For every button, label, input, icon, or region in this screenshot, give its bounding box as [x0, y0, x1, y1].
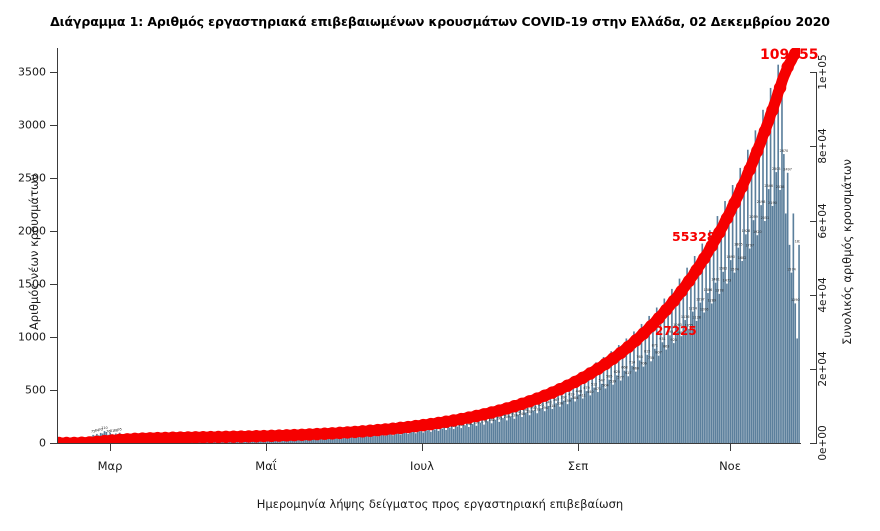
bar-value-label: 209: [504, 415, 510, 419]
bar-value-label: 440: [587, 390, 593, 394]
x-tick-label-ioul: Ιουλ: [410, 459, 434, 473]
bar: [749, 249, 751, 443]
bar-value-label: 660: [633, 366, 639, 370]
y2-tick-label-8e04: 8e+04: [817, 128, 829, 163]
x-tick-label-sep: Σεπ: [568, 459, 588, 473]
bar: [747, 150, 749, 443]
y2-tick-label-1e05: 1e+05: [817, 54, 829, 89]
bar: [529, 415, 531, 443]
bar-value-label: 2198: [757, 200, 766, 204]
bar: [707, 293, 709, 443]
bar: [684, 320, 686, 443]
bar: [755, 130, 757, 443]
bar: [734, 273, 736, 443]
bar-value-label: 2346: [764, 184, 773, 188]
x-tick-label-mar: Μαρ: [98, 459, 123, 473]
bar: [775, 172, 777, 443]
bar: [479, 423, 481, 443]
cumulative-dot: [759, 125, 771, 137]
bar: [369, 437, 371, 443]
bar-value-label: 336: [557, 401, 563, 405]
bar-value-label: 585: [606, 374, 612, 378]
bar: [724, 201, 726, 443]
bar: [770, 88, 772, 443]
x-tick-label-noe: Νοε: [719, 459, 741, 473]
bar-value-label: 1805: [734, 242, 743, 246]
bar: [586, 391, 588, 443]
bar: [449, 428, 451, 443]
bar: [569, 388, 571, 443]
bar: [396, 434, 398, 443]
bar: [358, 437, 360, 443]
bar: [441, 429, 443, 443]
bar: [739, 168, 741, 443]
bar-value-label: 1574: [730, 267, 739, 271]
bar: [533, 411, 535, 443]
cumulative-dot: [736, 181, 748, 193]
bar: [453, 429, 455, 443]
bar: [688, 329, 690, 443]
bar: [593, 388, 595, 443]
bar-value-label: 1128: [692, 316, 701, 320]
cumulative-dot: [683, 275, 695, 287]
bar: [350, 437, 352, 443]
bar: [696, 321, 698, 443]
bar: [794, 303, 796, 443]
bar: [514, 419, 516, 443]
y-tick-label-3000: 3000: [18, 119, 46, 132]
plot-area: 7584931107681889560657062756781728778948…: [58, 48, 800, 443]
bar: [502, 418, 504, 443]
bar-value-label: 547: [598, 379, 604, 383]
bar-value-label: 714: [629, 361, 635, 365]
bar: [768, 189, 770, 443]
bar: [601, 384, 603, 443]
bar-value-label: 871: [652, 344, 658, 348]
bar-value-label: 706: [640, 361, 646, 365]
bar-value-labels-group: 7584931107681889560657062756781728778948…: [91, 149, 800, 435]
cumulative-dot: [698, 252, 710, 264]
bar: [404, 433, 406, 443]
bar-value-label: 504: [602, 383, 608, 387]
y2-tick-mark-0e00: [810, 443, 816, 444]
cumulative-dot: [751, 145, 763, 157]
bar: [525, 413, 527, 443]
bar: [700, 303, 702, 443]
bar: [730, 260, 732, 443]
bar: [643, 367, 645, 443]
bar: [631, 366, 633, 443]
bar-value-label: 95: [118, 428, 122, 432]
bar: [722, 272, 724, 443]
bar: [422, 433, 424, 444]
annotation-cumulative-low: 27225: [655, 324, 697, 338]
y-tick-label-500: 500: [25, 384, 46, 397]
bar: [627, 376, 629, 443]
annotation-cumulative-final: 109655: [760, 47, 818, 63]
bar-value-label: 2503: [772, 167, 781, 171]
y-tick-mark-1000: [50, 337, 57, 338]
bar-value-label: 923: [671, 338, 677, 342]
bar: [578, 395, 580, 443]
bar-value-label: 275: [534, 408, 540, 412]
cumulative-cases-curve: [59, 48, 799, 443]
bar: [576, 385, 578, 443]
covid-cases-chart-figure: Διάγραμμα 1: Αριθμός εργαστηριακά επιβεβ…: [0, 0, 880, 531]
y-tick-label-3500: 3500: [18, 66, 46, 79]
bar-value-label: 539: [610, 379, 616, 383]
x-tick-mark-sep: [578, 444, 579, 451]
cumulative-dot: [766, 104, 778, 116]
bar: [665, 350, 667, 443]
bar: [597, 392, 599, 443]
bar: [781, 93, 783, 443]
bar-value-label: 257: [526, 410, 532, 414]
bar-value-label: 1928: [742, 229, 751, 233]
bar: [715, 283, 717, 443]
bar-value-label: 863: [663, 344, 669, 348]
bar: [711, 304, 713, 443]
y2-tick-mark-4e04: [810, 295, 816, 296]
bar: [766, 135, 768, 443]
plot-svg: 7584931107681889560657062756781728778948…: [58, 48, 800, 443]
bar: [464, 425, 466, 443]
bar: [783, 154, 785, 443]
bar-value-label: 1290: [791, 298, 800, 302]
bar: [419, 431, 421, 443]
bar: [654, 349, 656, 443]
bar: [774, 115, 776, 443]
bar: [407, 434, 409, 443]
bar: [751, 173, 753, 443]
bar: [709, 230, 711, 443]
bar: [738, 248, 740, 443]
bar: [608, 380, 610, 443]
bar: [703, 312, 705, 443]
x-tick-mark-noe: [730, 444, 731, 451]
bar-value-label: 2059: [749, 215, 758, 219]
bar: [415, 433, 417, 443]
y-tick-mark-2000: [50, 231, 57, 232]
y2-tick-label-4e04: 4e+04: [817, 277, 829, 312]
bar-value-label: 359: [564, 399, 570, 403]
bar-value-label: 1690: [726, 255, 735, 259]
bar: [673, 343, 675, 443]
bar: [758, 155, 760, 443]
cumulative-dot: [721, 212, 733, 224]
bar: [506, 420, 508, 443]
bar: [563, 401, 565, 443]
cumulative-dot: [690, 264, 702, 276]
bar: [495, 420, 497, 443]
bar: [793, 213, 795, 443]
bar-value-label: 1481: [711, 278, 720, 282]
bar-value-label: 625: [614, 370, 620, 374]
bar: [646, 355, 648, 443]
bar: [510, 416, 512, 443]
bar-value-label: 807: [655, 350, 661, 354]
y2-tick-label-6e04: 6e+04: [817, 203, 829, 238]
bar: [777, 65, 779, 443]
bar-value-label: 1289: [707, 298, 716, 302]
bar: [785, 213, 787, 443]
chart-title: Διάγραμμα 1: Αριθμός εργαστηριακά επιβεβ…: [0, 14, 880, 29]
bar: [392, 435, 394, 443]
y-tick-mark-1500: [50, 284, 57, 285]
bar: [743, 190, 745, 443]
x-tick-mark-mar: [110, 444, 111, 451]
bars-group: [58, 65, 800, 443]
bar: [719, 294, 721, 443]
bar: [650, 361, 652, 443]
bar: [555, 403, 557, 443]
bar-value-label: 815: [644, 350, 650, 354]
bar: [411, 432, 413, 443]
bar-value-label: 512: [591, 382, 597, 386]
bar: [347, 438, 349, 443]
y2-tick-mark-2e04: [810, 369, 816, 370]
bar: [468, 427, 470, 443]
bar: [624, 371, 626, 443]
bar: [772, 206, 774, 443]
bar: [605, 388, 607, 443]
bar: [540, 408, 542, 443]
y2-tick-mark-1e05: [810, 72, 816, 73]
x-tick-mark-ioul: [422, 444, 423, 451]
bar-value-label: 1920: [753, 230, 762, 234]
bar: [741, 261, 743, 443]
bar: [726, 284, 728, 443]
bar: [445, 430, 447, 443]
bar: [658, 356, 660, 443]
y-tick-label-0: 0: [39, 437, 46, 450]
bar: [366, 436, 368, 443]
bar: [635, 372, 637, 443]
bar-value-label: 2051: [761, 216, 770, 220]
bar-value-label: 577: [617, 375, 623, 379]
y-tick-mark-2500: [50, 178, 57, 179]
bar: [553, 395, 555, 443]
bar: [760, 205, 762, 443]
bar: [779, 190, 781, 443]
y-tick-mark-3000: [50, 125, 57, 126]
bar: [517, 415, 519, 443]
bar: [388, 434, 390, 443]
bar: [544, 411, 546, 443]
bar-value-label: 1797: [745, 243, 754, 247]
bar: [491, 423, 493, 443]
bar-value-label: 1297: [696, 297, 705, 301]
bar-value-label: 763: [636, 355, 642, 359]
bar-value-label: 1214: [688, 306, 697, 310]
bar: [789, 245, 791, 443]
bar-value-label: 195: [496, 417, 502, 421]
bar: [662, 342, 664, 443]
bar: [362, 437, 364, 443]
bar: [438, 431, 440, 443]
x-axis-spine: [58, 443, 801, 444]
bar: [434, 430, 436, 443]
bar: [639, 360, 641, 443]
bar: [798, 245, 800, 443]
bar: [571, 398, 573, 443]
bar: [745, 234, 747, 443]
bar: [681, 336, 683, 443]
bar: [373, 435, 375, 443]
bar: [536, 413, 538, 443]
bar-value-label: 668: [621, 366, 627, 370]
bar-value-label: 755: [648, 356, 654, 360]
bar-value-label: 294: [542, 406, 548, 410]
bar: [400, 435, 402, 443]
bar: [582, 399, 584, 443]
cumulative-dot: [744, 163, 756, 175]
bar: [487, 421, 489, 443]
bar: [498, 422, 500, 443]
bar: [753, 220, 755, 443]
y-tick-mark-3500: [50, 72, 57, 73]
bar-value-label: 314: [549, 404, 555, 408]
x-axis-title: Ημερομηνία λήψης δείγματος προς εργαστηρ…: [0, 497, 880, 511]
bar: [589, 395, 591, 443]
bar: [552, 409, 554, 443]
bar: [381, 435, 383, 443]
y-axis-right-title: Συνολικός αριθμός κρουσμάτων: [840, 137, 854, 367]
bar: [669, 335, 671, 443]
bar-value-label: 1831: [795, 240, 800, 244]
bar-value-label: 617: [625, 371, 631, 375]
cumulative-dot: [675, 285, 687, 297]
bar: [472, 424, 474, 443]
bar: [756, 235, 758, 443]
y2-tick-mark-6e04: [810, 221, 816, 222]
bar-value-label: 2190: [768, 201, 777, 205]
bar: [561, 392, 563, 443]
bar: [612, 385, 614, 443]
bar: [339, 438, 341, 443]
bar: [567, 404, 569, 443]
y-tick-mark-500: [50, 390, 57, 391]
bar: [796, 338, 798, 443]
bar: [787, 173, 789, 443]
y2-tick-label-2e04: 2e+04: [817, 351, 829, 386]
bar: [426, 430, 428, 443]
bar-value-label: 411: [579, 393, 585, 397]
bar-value-label: 2497: [783, 168, 792, 172]
y-tick-mark-0: [50, 443, 57, 444]
bar: [548, 406, 550, 443]
bar: [677, 328, 679, 443]
bar: [616, 375, 618, 443]
bar-value-label: 1574: [787, 267, 796, 271]
bar: [377, 436, 379, 443]
bar: [717, 216, 719, 443]
y2-tick-label-0e00: 0e+00: [817, 425, 829, 460]
bar-value-label: 1386: [704, 288, 713, 292]
bar: [732, 185, 734, 443]
bar: [574, 401, 576, 443]
bar: [476, 426, 478, 443]
bar-value-label: 1206: [700, 307, 709, 311]
bar: [343, 437, 345, 443]
bar: [762, 110, 764, 443]
bar: [559, 407, 561, 443]
x-tick-mark-mai: [266, 444, 267, 451]
y2-tick-mark-8e04: [810, 146, 816, 147]
bar-value-label: 240: [519, 412, 525, 416]
cumulative-dot: [774, 82, 786, 94]
annotation-cumulative-mid: 55328: [672, 229, 716, 244]
bar: [457, 427, 459, 443]
y-axis-left-title: Αριθμός νέων κρουσμάτων: [27, 137, 41, 367]
bar-value-label: 2338: [776, 185, 785, 189]
bar: [430, 432, 432, 443]
bar: [354, 438, 356, 443]
bar-value-label: 1378: [715, 289, 724, 293]
bar: [460, 428, 462, 443]
bar-value-label: 2670: [780, 149, 789, 153]
bar-value-label: 1682: [738, 256, 747, 260]
bar-value-label: 1473: [723, 278, 732, 282]
bar-value-label: 384: [572, 396, 578, 400]
bar-value-label: 471: [595, 387, 601, 391]
bar-value-label: 1136: [681, 315, 690, 319]
bar: [385, 436, 387, 443]
bar: [764, 221, 766, 443]
bar: [483, 425, 485, 443]
bar: [620, 381, 622, 443]
cumulative-dot: [728, 197, 740, 209]
bar: [521, 417, 523, 443]
bar-value-label: 1582: [719, 267, 728, 271]
x-tick-label-mai: Μαΐ: [255, 459, 276, 473]
bar-value-label: 224: [511, 414, 517, 418]
